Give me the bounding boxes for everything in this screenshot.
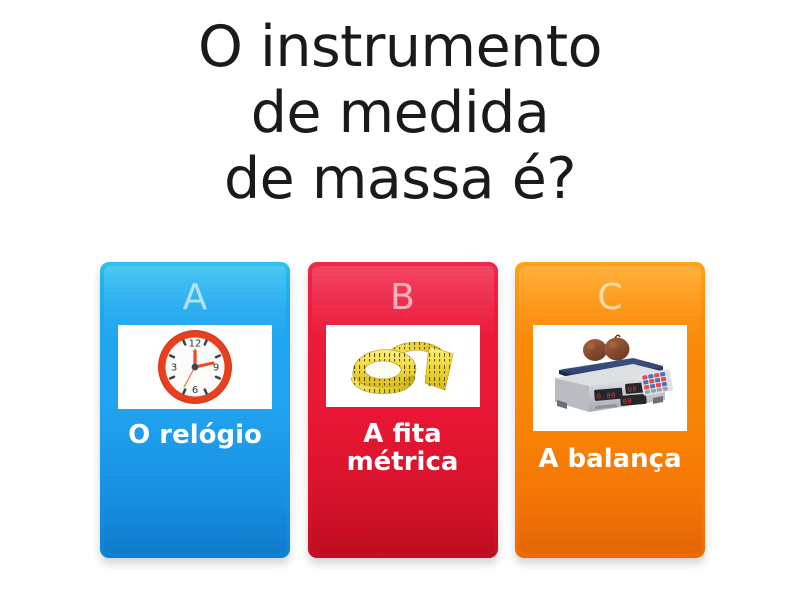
answer-label-b: A fita métrica [343,420,463,476]
question-area: O instrumento de medida de massa é? [20,14,780,212]
page-title: O instrumento de medida de massa é? [20,14,780,212]
svg-text:0.00: 0.00 [596,391,616,401]
answer-image-box-a: 12 3 9 6 [118,325,272,409]
svg-text:6: 6 [192,385,198,396]
answer-card-a[interactable]: A [100,262,290,558]
answer-options-row: A [100,262,705,560]
answer-card-b[interactable]: B [308,262,498,558]
answer-image-box-c: 0.00 00 00 [533,325,687,431]
answer-label-c: A balança [534,445,685,473]
answer-letter-a: A [183,276,208,320]
digital-scale-icon: 0.00 00 00 [537,328,683,428]
measuring-tape-icon [333,328,473,404]
answer-letter-c: C [597,276,622,320]
svg-text:12: 12 [189,339,202,350]
svg-text:3: 3 [171,363,177,374]
clock-icon: 12 3 9 6 [137,327,253,407]
quiz-screen: O instrumento de medida de massa é? A [0,0,800,600]
answer-image-box-b [326,325,480,407]
answer-card-c[interactable]: C [515,262,705,558]
answer-letter-b: B [390,276,415,320]
answer-label-a: O relógio [124,421,266,449]
svg-text:00: 00 [627,385,637,394]
svg-text:00: 00 [622,397,632,406]
